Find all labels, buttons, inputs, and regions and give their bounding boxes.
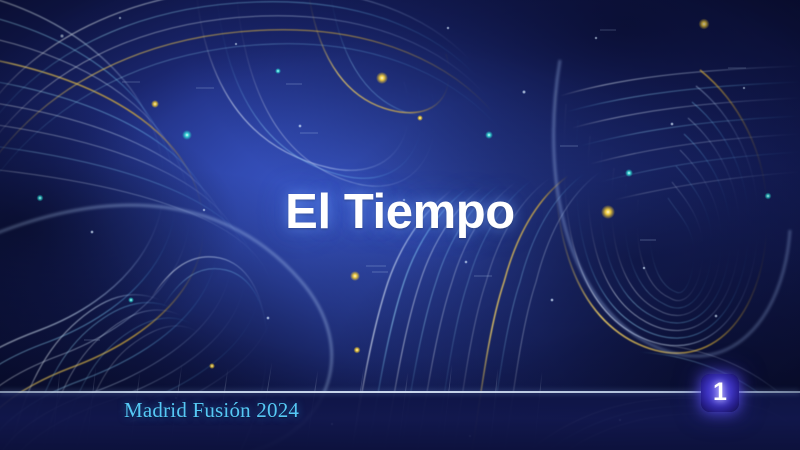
broadcast-slate: El Tiempo Madrid Fusión 2024 1 [0,0,800,450]
lower-third-band [0,393,800,450]
channel-number-label: 1 [713,380,727,405]
page-title: El Tiempo [285,186,515,238]
segment-caption: Madrid Fusión 2024 [124,399,299,421]
la1-channel-logo-icon: 1 [701,374,739,412]
horizontal-divider-icon [0,391,800,393]
program-title-container: El Tiempo [0,186,800,238]
